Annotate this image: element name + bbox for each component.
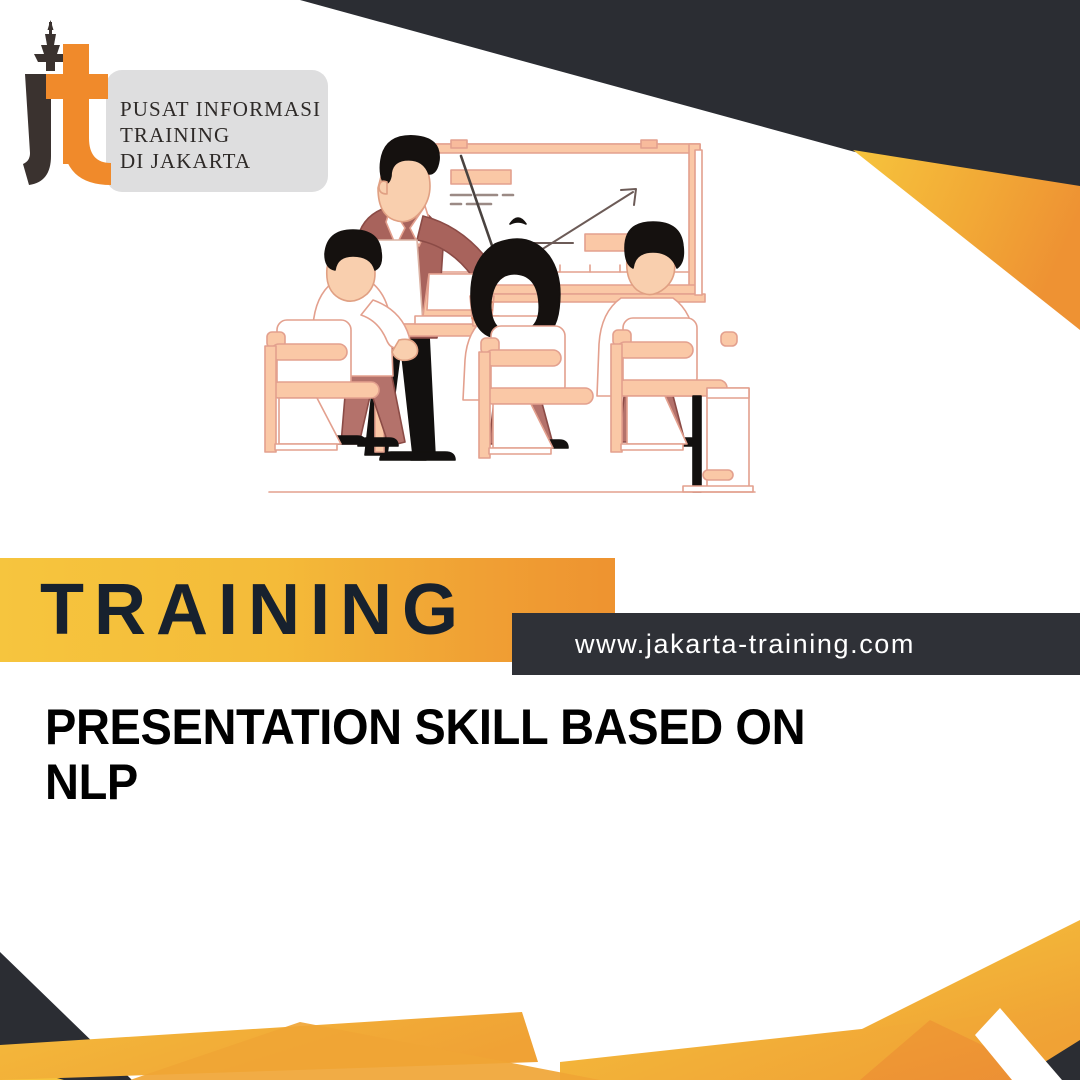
training-banner-label: TRAINING [40,574,468,646]
monas-tower-icon [34,20,67,71]
letter-t [46,44,111,185]
logo-line-2: TRAINING [120,122,350,148]
logo-tagline: PUSAT INFORMASI TRAINING DI JAKARTA [120,96,350,174]
trash-bin [683,388,753,492]
training-presentation-illustration [255,120,815,540]
logo-line-1: PUSAT INFORMASI [120,96,350,122]
brand-logo[interactable]: PUSAT INFORMASI TRAINING DI JAKARTA [8,18,338,198]
website-url-text: www.jakarta-training.com [575,629,915,660]
website-url-bar[interactable]: www.jakarta-training.com [512,613,1080,675]
logo-line-3: DI JAKARTA [120,148,350,174]
logo-mark-jt [8,18,128,198]
chair-center [479,326,593,458]
course-title-block: PRESENTATION SKILL BASED ON NLP [45,700,945,810]
course-title: PRESENTATION SKILL BASED ON NLP [45,700,891,810]
poster-canvas: PUSAT INFORMASI TRAINING DI JAKARTA [0,0,1080,1080]
